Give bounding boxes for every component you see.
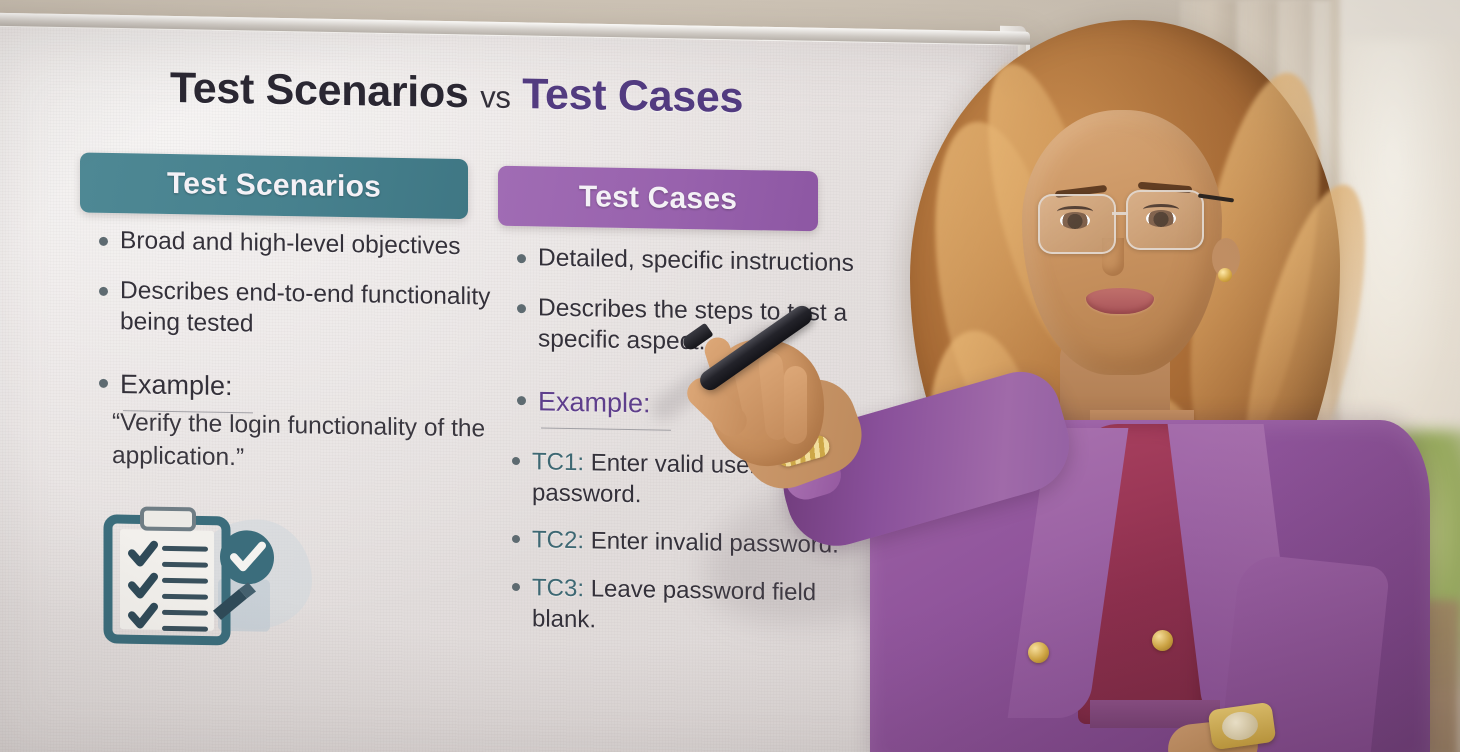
eyeglasses-lens bbox=[1126, 190, 1204, 250]
test-scenarios-column: Broad and high-level objectives Describe… bbox=[88, 225, 498, 424]
title-accent-text: Test Cases bbox=[522, 70, 743, 122]
example-label: Example: bbox=[120, 367, 233, 406]
example-underline bbox=[541, 427, 671, 431]
test-case-id: TC2: bbox=[532, 527, 584, 555]
eyeglasses-lens bbox=[1038, 194, 1116, 254]
blazer-button bbox=[1152, 630, 1173, 651]
example-quote-text: “Verify the login functionality of the a… bbox=[112, 407, 512, 480]
list-item: Broad and high-level objectives bbox=[88, 225, 498, 263]
slide-photo-scene: Test Scenarios vs Test Cases Test Scenar… bbox=[0, 0, 1460, 752]
test-case-id: TC3: bbox=[532, 574, 584, 602]
example-label: Example: bbox=[538, 385, 651, 424]
finger bbox=[784, 366, 807, 444]
title-main-text: Test Scenarios bbox=[170, 64, 469, 117]
blazer-button bbox=[1028, 642, 1049, 663]
title-vs-text: vs bbox=[480, 79, 510, 115]
earring bbox=[1218, 268, 1232, 282]
test-case-id: TC1: bbox=[532, 448, 584, 476]
test-scenarios-banner: Test Scenarios bbox=[80, 152, 468, 219]
test-scenarios-banner-label: Test Scenarios bbox=[167, 167, 381, 205]
page-title: Test Scenarios vs Test Cases bbox=[170, 64, 743, 123]
test-scenarios-bullet-list: Broad and high-level objectives Describe… bbox=[88, 225, 498, 418]
clipboard-checklist-icon bbox=[100, 505, 315, 654]
list-item: Describes end-to-end functionality being… bbox=[88, 275, 498, 344]
eyeglasses-bridge bbox=[1112, 212, 1128, 215]
test-cases-banner-label: Test Cases bbox=[579, 180, 737, 217]
presenter-illustration bbox=[760, 0, 1460, 752]
